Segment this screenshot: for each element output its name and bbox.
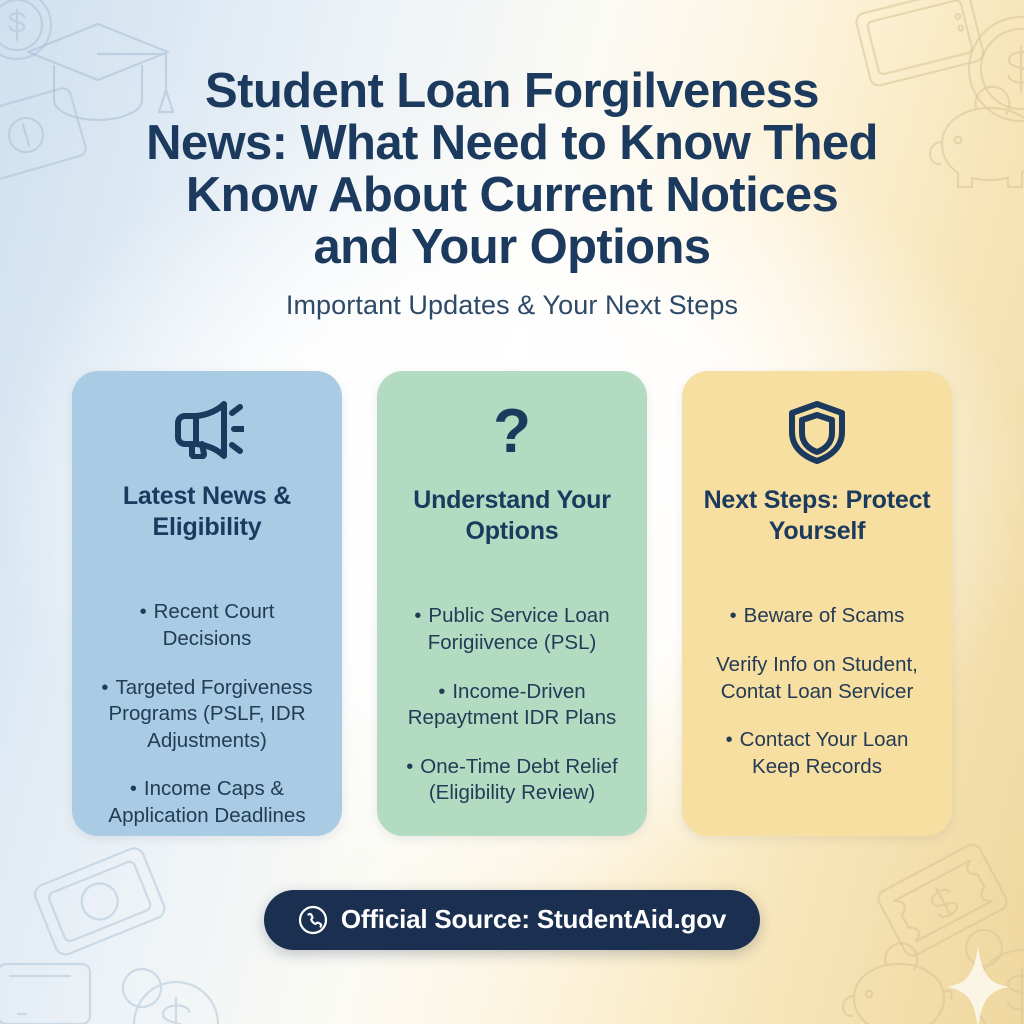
card-understand-options[interactable]: ? Understand Your Options Public Service… <box>377 371 647 836</box>
card-group: Latest News & Eligibility Recent Court D… <box>72 371 952 836</box>
shield-icon <box>788 401 846 463</box>
card-title: Latest News & Eligibility <box>90 481 324 544</box>
card-bullet-list: Recent Court Decisions Targeted Forgiven… <box>90 599 324 829</box>
card-latest-news[interactable]: Latest News & Eligibility Recent Court D… <box>72 371 342 836</box>
list-item: Recent Court Decisions <box>90 599 324 652</box>
list-item: Targeted Forgiveness Programs (PSLF, IDR… <box>90 675 324 755</box>
card-next-steps[interactable]: Next Steps: Protect Yourself Beware of S… <box>682 371 952 836</box>
card-title: Understand Your Options <box>395 485 629 548</box>
infographic-poster: Student Loan Forgilveness News: What Nee… <box>0 0 1024 1024</box>
card-title: Next Steps: Protect Yourself <box>700 485 934 548</box>
megaphone-icon <box>170 401 244 459</box>
official-source-label: Official Source: StudentAid.gov <box>341 904 726 935</box>
official-source-banner[interactable]: Official Source: StudentAid.gov <box>264 890 760 950</box>
list-item: Income Caps & Application Deadlines <box>90 776 324 829</box>
list-item: Contact Your Loan Keep Records <box>700 727 934 780</box>
list-item: Verify Info on Student, Contat Loan Serv… <box>700 652 934 705</box>
page-title: Student Loan Forgilveness News: What Nee… <box>142 66 882 274</box>
list-item: Beware of Scams <box>700 603 934 630</box>
card-bullet-list: Beware of Scams Verify Info on Student, … <box>700 603 934 780</box>
list-item: Public Service Loan Forigiivence (PSL) <box>395 603 629 656</box>
card-bullet-list: Public Service Loan Forigiivence (PSL) I… <box>395 603 629 807</box>
list-item: Income-Driven Repaytment IDR Plans <box>395 679 629 732</box>
question-mark-icon: ? <box>493 401 531 463</box>
list-item: One-Time Debt Relief (Eligibility Review… <box>395 754 629 807</box>
phone-circle-icon <box>298 905 328 935</box>
page-subtitle: Important Updates & Your Next Steps <box>286 290 738 321</box>
